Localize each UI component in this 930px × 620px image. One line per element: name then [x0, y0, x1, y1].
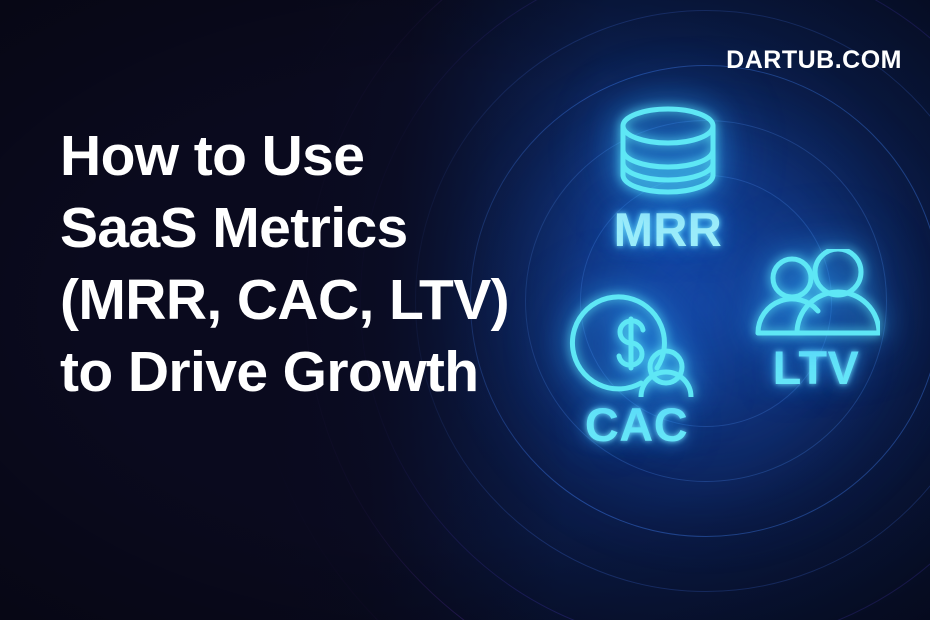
metric-label-mrr: MRR	[614, 206, 723, 253]
two-people-icon	[752, 249, 880, 342]
title-line-3: (MRR, CAC, LTV)	[60, 264, 530, 336]
metric-mrr: MRR	[613, 103, 723, 253]
dollar-coin-person-icon	[569, 282, 704, 397]
metric-ltv: LTV	[752, 249, 880, 391]
site-watermark: DARTUB.COM	[726, 46, 902, 75]
database-cylinder-icon	[613, 103, 723, 198]
title-line-4: to Drive Growth	[60, 336, 530, 408]
page-title: How to Use SaaS Metrics (MRR, CAC, LTV) …	[60, 120, 530, 408]
metric-cac: CAC	[569, 282, 704, 448]
metric-label-ltv: LTV	[773, 344, 860, 391]
title-line-2: SaaS Metrics	[60, 192, 530, 264]
thumbnail-canvas: DARTUB.COM How to Use SaaS Metrics (MRR,…	[0, 0, 930, 620]
title-line-1: How to Use	[60, 120, 530, 192]
metric-label-cac: CAC	[585, 401, 688, 448]
